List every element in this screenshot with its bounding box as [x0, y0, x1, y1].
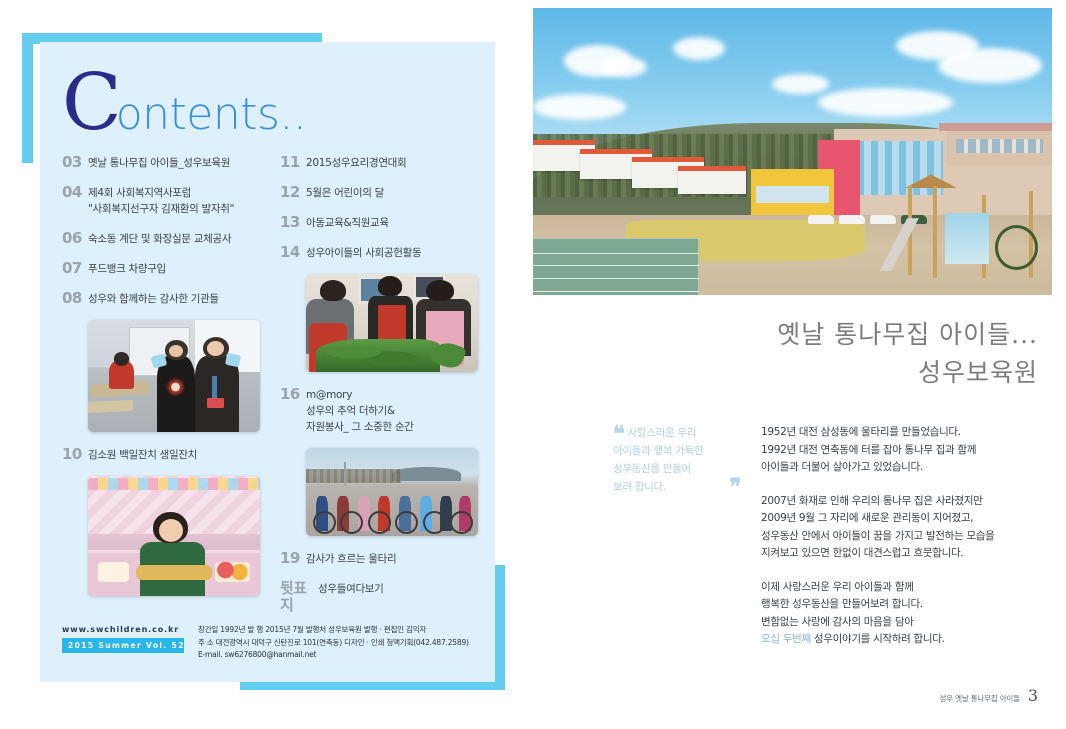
- article-line: 성우동산 안에서 아이들이 꿈을 가지고 발전하는 모습을: [761, 528, 1051, 546]
- toc-number: 03: [62, 154, 88, 171]
- parked-car-shape: [808, 215, 834, 224]
- toc-entry-back-cover[interactable]: 뒷표지 성우들여다보기: [280, 580, 492, 614]
- desk-shape: [88, 399, 133, 413]
- toc-entry-13[interactable]: 13 아동교육&직원교육: [280, 214, 492, 231]
- toc-label: 성우와 함께하는 감사한 기관들: [88, 290, 219, 307]
- toc-number: 07: [62, 260, 88, 277]
- toc-number: 12: [280, 184, 306, 201]
- toc-entry-12[interactable]: 12 5월은 어린이의 달: [280, 184, 492, 201]
- article-line: 행복한 성우동산을 만들어보려 합니다.: [761, 596, 1051, 614]
- article-line: 지켜보고 있으면 한없이 대견스럽고 흐뭇합니다.: [761, 545, 1051, 563]
- lamp-post-shape: [344, 462, 347, 485]
- toc-label-line: 감사가 흐르는 울타리: [306, 551, 396, 567]
- toc-entry-16[interactable]: 16 m@mory 성우의 추억 더하기& 자원봉사_ 그 소중한 순간: [280, 386, 492, 435]
- toc-label-line: m@mory: [306, 387, 414, 403]
- track-lane-line: [533, 291, 699, 292]
- birthday-party-photo: [88, 476, 260, 596]
- article-paragraph-1: 1952년 대전 삼성동에 울타리를 만들었습니다. 1992년 대전 연축동에…: [761, 424, 1051, 477]
- playground-structure-shape: [886, 174, 1042, 289]
- support-post-shape: [933, 186, 937, 278]
- parked-car-shape: [839, 215, 865, 224]
- treeline-shape: [306, 469, 401, 483]
- woman-face-shape: [207, 341, 224, 356]
- window-row-shape: [956, 139, 1043, 153]
- window-shape: [756, 186, 829, 202]
- toc-label-line: 숙소동 계단 및 화장실문 교체공사: [88, 231, 231, 247]
- toc-label-line: 김소원 백일잔치 생일잔치: [88, 447, 197, 463]
- toc-number: 13: [280, 214, 306, 231]
- bike-outing-photo: [306, 448, 478, 536]
- toc-label-line: 제4회 사회복지역사포럼: [88, 185, 234, 201]
- toc-label: m@mory 성우의 추억 더하기& 자원봉사_ 그 소중한 순간: [306, 386, 414, 435]
- toc-number: 04: [62, 184, 88, 201]
- toc-label-line: "사회복지선구자 김재환의 발자취": [88, 201, 234, 217]
- article-body: 1952년 대전 삼성동에 울타리를 만들었습니다. 1992년 대전 연축동에…: [761, 424, 1051, 665]
- toc-label-line: 2015성우요리경연대회: [306, 155, 406, 171]
- toc-entry-06[interactable]: 06 숙소동 계단 및 화장실문 교체공사: [62, 230, 277, 247]
- track-lane-line: [533, 265, 699, 266]
- toc-number: 08: [62, 290, 88, 307]
- running-track-shape: [533, 238, 699, 295]
- child-face-shape: [159, 519, 183, 542]
- toc-label-line: 5월은 어린이의 달: [306, 185, 384, 201]
- lanyard-shape: [212, 376, 217, 401]
- toc-number-back-cover: 뒷표지: [280, 580, 318, 614]
- toc-label-line: 아동교육&직원교육: [306, 215, 389, 231]
- track-lane-line: [533, 278, 699, 279]
- website-url[interactable]: www.swchildren.co.kr: [62, 625, 184, 634]
- article-paragraph-2: 2007년 화재로 인해 우리의 통나무 집은 사라졌지만 2009년 9월 그…: [761, 493, 1051, 563]
- toc-number: 14: [280, 244, 306, 261]
- toc-label: 성우아이들의 사회공헌활동: [306, 244, 421, 261]
- toc-label: 성우들여다보기: [318, 580, 384, 597]
- toc-label: 2015성우요리경연대회: [306, 154, 406, 171]
- cake-shape: [98, 562, 129, 581]
- track-lane-line: [533, 253, 699, 254]
- toc-column-left: 03 옛날 통나무집 아이들_성우보육원 04 제4회 사회복지역사포럼 "사회…: [62, 154, 277, 610]
- cloud-shape: [600, 57, 647, 77]
- toc-label: 제4회 사회복지역사포럼 "사회복지선구자 김재환의 발자취": [88, 184, 234, 217]
- contents-panel: C ontents.. 03 옛날 통나무집 아이들_성우보육원 04 제4회 …: [40, 42, 495, 682]
- page-footer: 성우 옛날 통나무집 아이들 3: [940, 686, 1038, 705]
- campus-playground-photo: [533, 8, 1052, 295]
- article-line: 1992년 대전 연축동에 터를 잡아 통나무 집과 함께: [761, 442, 1051, 460]
- cloud-shape: [938, 48, 1042, 82]
- article-line: 2007년 화재로 인해 우리의 통나무 집은 사라졌지만: [761, 493, 1051, 511]
- seated-boy-head-shape: [114, 352, 129, 365]
- hill-shape: [392, 467, 461, 481]
- article-closing-line: 오십 두번째 성우이야기를 시작하려 합니다.: [761, 631, 1051, 649]
- person-head-shape: [426, 280, 454, 302]
- bicycle-shape: [313, 511, 336, 534]
- toc-label-line: 푸드뱅크 차량구입: [88, 261, 166, 277]
- toc-label: 김소원 백일잔치 생일잔치: [88, 446, 197, 463]
- vegetables-shape: [316, 339, 440, 372]
- article-title-line-2: 성우보육원: [533, 354, 1038, 392]
- cloud-shape: [673, 37, 725, 60]
- classroom-photo: [88, 320, 260, 432]
- colophon-row-email: E-mail. sw6276800@hanmail.net: [198, 649, 469, 662]
- toc-entry-19[interactable]: 19 감사가 흐르는 울타리: [280, 550, 492, 567]
- cooking-photo: [306, 274, 478, 372]
- cloud-shape: [818, 88, 953, 117]
- article-title-line-1: 옛날 통나무집 아이들...: [777, 320, 1038, 349]
- pull-quote-line: 아이들과 행복 가득한: [613, 445, 703, 457]
- article-line: 1952년 대전 삼성동에 울타리를 만들었습니다.: [761, 424, 1051, 442]
- toc-column-right: 11 2015성우요리경연대회 12 5월은 어린이의 달 13 아동교육&직원…: [280, 154, 492, 627]
- play-wheel-shape: [995, 225, 1038, 270]
- colophon-row-address: 주 소 대전광역시 대덕구 신탄진로 101(연축동) 디자인 · 인쇄 청맥기…: [198, 637, 469, 650]
- toc-entry-10[interactable]: 10 김소원 백일잔치 생일잔치: [62, 446, 277, 463]
- person-head-shape: [320, 280, 346, 302]
- bunting-decoration-shape: [88, 478, 260, 490]
- toc-number: 10: [62, 446, 88, 463]
- bicycle-shape: [368, 511, 391, 534]
- pull-quote-line: 사랑스러운 우리: [628, 427, 697, 439]
- page-number: 3: [1028, 686, 1038, 705]
- pull-quote-line: 성우동산을 만들어: [613, 463, 691, 475]
- person-head-shape: [378, 276, 402, 296]
- toc-label-line: 성우들여다보기: [318, 581, 384, 597]
- toc-number: 06: [62, 230, 88, 247]
- woman-body-shape: [195, 356, 240, 432]
- toc-label: 숙소동 계단 및 화장실문 교체공사: [88, 230, 231, 247]
- toc-label: 아동교육&직원교육: [306, 214, 389, 231]
- toc-label-line: 자원봉사_ 그 소중한 순간: [306, 419, 414, 435]
- article-paragraph-3: 이제 사랑스러운 우리 아이들과 함께 행복한 성우동산을 만들어보려 합니다.…: [761, 579, 1051, 649]
- row-house-shape: [678, 166, 745, 194]
- colophon-details: 창간일 1992년 발 행 2015년 7월 발행처 성우보육원 발행 · 편집…: [198, 624, 469, 662]
- quote-open-icon: ❝: [613, 421, 625, 447]
- closing-highlight: 오십 두번째: [761, 633, 811, 645]
- toc-entry-11[interactable]: 11 2015성우요리경연대회: [280, 154, 492, 171]
- issue-badge: 2015 Summer Vol. 52: [62, 638, 184, 653]
- article-title: 옛날 통나무집 아이들... 성우보육원: [533, 316, 1038, 392]
- bicycle-shape: [423, 511, 446, 534]
- toc-entry-03[interactable]: 03 옛날 통나무집 아이들_성우보육원: [62, 154, 277, 171]
- toc-number: 16: [280, 386, 306, 403]
- slide-shape: [880, 218, 933, 271]
- colophon-row-publication: 창간일 1992년 발 행 2015년 7월 발행처 성우보육원 발행 · 편집…: [198, 624, 469, 637]
- id-badge-shape: [207, 398, 224, 408]
- contents-heading: C ontents..: [62, 64, 306, 150]
- toc-label: 감사가 흐르는 울타리: [306, 550, 396, 567]
- pull-quote: ❝ 사랑스러운 우리 아이들과 행복 가득한 성우동산을 만들어 보려 합니다.…: [613, 424, 741, 496]
- toc-number: 11: [280, 154, 306, 171]
- roof-shape: [939, 123, 1052, 130]
- article-line: 이제 사랑스러운 우리 아이들과 함께: [761, 579, 1051, 597]
- toc-label: 5월은 어린이의 달: [306, 184, 384, 201]
- article-line: 아이들과 더불어 살아가고 있었습니다.: [761, 459, 1051, 477]
- tray-shape: [136, 565, 212, 581]
- right-page: 옛날 통나무집 아이들... 성우보육원 ❝ 사랑스러운 우리 아이들과 행복 …: [533, 0, 1066, 729]
- toc-label-line: 성우아이들의 사회공헌활동: [306, 245, 421, 261]
- colophon-brand: www.swchildren.co.kr 2015 Summer Vol. 52: [62, 624, 184, 662]
- article-line: 2009년 9월 그 자리에 새로운 관리동이 지어졌고,: [761, 510, 1051, 528]
- toc-entry-07[interactable]: 07 푸드뱅크 차량구입: [62, 260, 277, 277]
- climbing-panel-shape: [945, 213, 989, 264]
- colophon: www.swchildren.co.kr 2015 Summer Vol. 52…: [62, 624, 482, 662]
- toc-number: 19: [280, 550, 306, 567]
- toc-entry-04[interactable]: 04 제4회 사회복지역사포럼 "사회복지선구자 김재환의 발자취": [62, 184, 277, 217]
- contents-heading-initial: C: [62, 64, 120, 142]
- toc-label: 옛날 통나무집 아이들_성우보육원: [88, 154, 230, 171]
- toc-label-line: 옛날 통나무집 아이들_성우보육원: [88, 155, 230, 171]
- footer-caption: 성우 옛날 통나무집 아이들: [940, 693, 1020, 704]
- contents-heading-rest: ontents..: [116, 93, 307, 137]
- cloud-shape: [533, 94, 626, 120]
- toc-entry-08[interactable]: 08 성우와 함께하는 감사한 기관들: [62, 290, 277, 307]
- toc-label: 푸드뱅크 차량구입: [88, 260, 166, 277]
- cloud-shape: [772, 74, 829, 94]
- closing-rest: 성우이야기를 시작하려 합니다.: [811, 633, 945, 645]
- article-line: 변함없는 사랑에 감사의 마음을 담아: [761, 614, 1051, 632]
- left-page: C ontents.. 03 옛날 통나무집 아이들_성우보육원 04 제4회 …: [0, 0, 533, 729]
- toc-label-line: 성우와 함께하는 감사한 기관들: [88, 291, 219, 307]
- toc-label-line: 성우의 추억 더하기&: [306, 403, 414, 419]
- gift-item-right-shape: [224, 352, 240, 367]
- fruit-plate-shape: [215, 562, 249, 581]
- playhouse-roof-shape: [905, 174, 958, 188]
- toc-entry-14[interactable]: 14 성우아이들의 사회공헌활동: [280, 244, 492, 261]
- pull-quote-line: 보려 합니다.: [613, 481, 666, 493]
- girl-face-shape: [169, 345, 183, 357]
